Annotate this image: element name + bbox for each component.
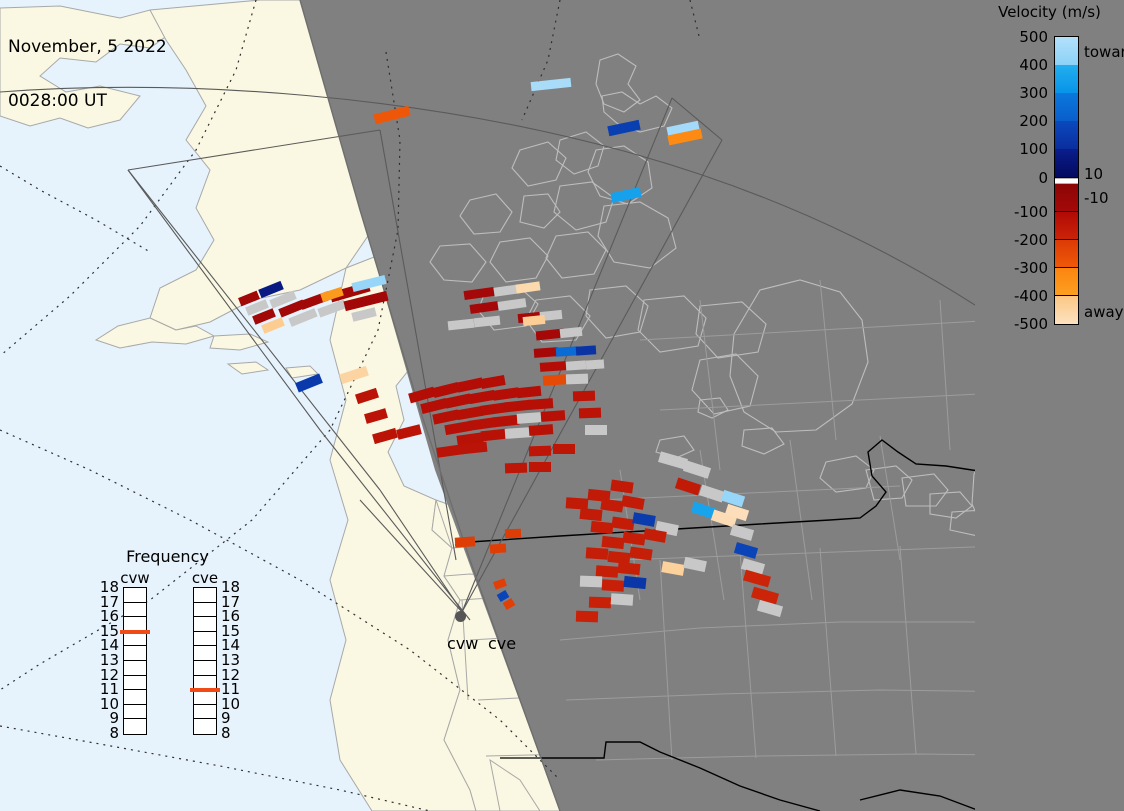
colorbar-title: Velocity (m/s) <box>975 3 1124 21</box>
radar-cell <box>480 375 505 389</box>
colorbar-tick--300: -300 <box>990 259 1048 277</box>
colorbar-band--500--400 <box>1055 296 1078 324</box>
radar-cell <box>373 106 410 124</box>
frequency-cell <box>194 588 216 603</box>
frequency-marker-cvw <box>120 630 150 634</box>
radar-cell <box>529 462 551 472</box>
radar-cell <box>461 442 488 455</box>
radar-cell <box>505 427 532 439</box>
radar-cell <box>585 425 607 435</box>
radar-cell <box>586 547 609 560</box>
radar-cell <box>580 576 602 588</box>
radar-cell <box>372 428 398 444</box>
colorbar-band-300-400 <box>1055 65 1078 93</box>
radar-cell <box>295 373 323 392</box>
radar-cell <box>602 579 625 592</box>
date-label: November, 5 2022 <box>8 38 167 56</box>
frequency-column-name-cvw: cvw <box>113 569 157 587</box>
radar-cell <box>553 444 575 454</box>
radar-cell <box>543 374 568 386</box>
colorbar-tick--200: -200 <box>990 231 1048 249</box>
radar-cell <box>355 388 379 404</box>
frequency-cell <box>194 705 216 720</box>
site-label-cvw: cvw <box>447 634 478 653</box>
frequency-cell <box>124 690 146 705</box>
radar-cell <box>566 374 588 385</box>
radar-cell <box>517 412 542 424</box>
colorbar-tick--400: -400 <box>990 287 1048 305</box>
frequency-cell <box>194 661 216 676</box>
radar-cell <box>675 478 701 496</box>
radar-cell <box>505 400 532 413</box>
radar-cell <box>629 547 652 561</box>
radar-cell <box>586 359 605 369</box>
frequency-cell <box>124 603 146 618</box>
radar-cell <box>503 598 516 610</box>
radar-cell <box>364 408 388 424</box>
colorbar-near-zero-positive-label: 10 <box>1084 165 1103 183</box>
radar-cell <box>492 387 519 401</box>
radar-cell <box>743 570 771 588</box>
colorbar-panel: Velocity (m/s) 5004003002001000-100-200-… <box>975 0 1124 811</box>
frequency-title: Frequency <box>95 547 240 566</box>
frequency-bar-cve[interactable] <box>193 587 217 735</box>
radar-cell <box>523 315 546 326</box>
radar-site-marker <box>455 611 466 622</box>
colorbar-band-100-200 <box>1055 121 1078 149</box>
radar-cell <box>339 366 369 384</box>
radar-cell <box>505 463 527 474</box>
radar-cell <box>540 361 567 372</box>
radar-cell <box>734 542 758 559</box>
frequency-tick-right-8: 8 <box>221 724 231 742</box>
radar-cell <box>683 460 711 478</box>
radar-cell <box>607 120 640 136</box>
radar-cell <box>456 406 483 420</box>
radar-cell <box>480 402 507 416</box>
radar-cell <box>481 429 508 442</box>
radar-cell <box>541 410 566 422</box>
colorbar-tick-300: 300 <box>990 84 1048 102</box>
frequency-cell <box>194 646 216 661</box>
radar-cell <box>730 524 754 541</box>
radar-cell <box>534 347 559 358</box>
colorbar-tick-200: 200 <box>990 112 1048 130</box>
timestamp-block: November, 5 2022 0028:00 UT <box>8 2 167 146</box>
site-label-cve: cve <box>488 634 516 653</box>
radar-cell <box>579 508 602 521</box>
radar-cell <box>611 517 634 531</box>
frequency-cell <box>124 646 146 661</box>
radar-cell <box>464 287 495 300</box>
radar-cell <box>444 421 471 435</box>
colorbar-band--200--100 <box>1055 212 1078 240</box>
colorbar-near-zero-negative-label: -10 <box>1084 189 1109 207</box>
colorbar-tick-500: 500 <box>990 28 1048 46</box>
radar-cell <box>517 386 542 398</box>
time-label: 0028:00 UT <box>8 92 167 110</box>
radar-cell <box>505 529 521 539</box>
radar-cell <box>757 600 783 617</box>
radar-cell <box>623 576 646 589</box>
colorbar-gradient[interactable] <box>1054 36 1079 325</box>
radar-cell <box>529 398 554 410</box>
radar-cell <box>351 307 376 322</box>
radar-cell <box>468 390 495 404</box>
radar-cell <box>529 446 551 457</box>
colorbar-tick-0: 0 <box>990 169 1048 187</box>
radar-cell <box>493 415 520 428</box>
radar-cell <box>448 319 475 331</box>
colorbar-tick--100: -100 <box>990 203 1048 221</box>
colorbar-band--400--300 <box>1055 268 1078 296</box>
fan-plot-canvas: November, 5 2022 0028:00 UT cvw cve Freq… <box>0 0 1124 811</box>
radar-cell <box>566 360 587 370</box>
radar-cell <box>589 597 611 609</box>
radar-cell <box>455 536 476 547</box>
radar-cell <box>683 557 707 572</box>
frequency-cell <box>124 676 146 691</box>
colorbar-away-label: away <box>1084 303 1124 321</box>
radar-cell <box>396 424 422 440</box>
radar-cell <box>621 495 645 510</box>
colorbar-band--100-0 <box>1055 184 1078 212</box>
radar-cell <box>601 536 624 549</box>
radar-cell <box>661 561 685 576</box>
radar-cell <box>611 593 634 606</box>
radar-cell <box>579 408 601 419</box>
frequency-cell <box>194 719 216 734</box>
colorbar-band-400-500 <box>1055 37 1078 65</box>
radar-cell <box>468 417 495 431</box>
frequency-legend: Frequency cvw cve 18171615141312111098 1… <box>95 545 240 785</box>
frequency-cell <box>194 603 216 618</box>
radar-cell <box>573 391 595 402</box>
frequency-cell <box>124 705 146 720</box>
radar-cell <box>576 611 598 623</box>
radar-cell <box>610 187 641 203</box>
colorbar-tick--500: -500 <box>990 315 1048 333</box>
colorbar-tick-400: 400 <box>990 56 1048 74</box>
frequency-cell <box>194 690 216 705</box>
frequency-cell <box>124 588 146 603</box>
colorbar-band-0-100 <box>1055 149 1078 177</box>
radar-cell <box>490 543 507 553</box>
frequency-cell <box>194 617 216 632</box>
radar-cell <box>470 301 499 314</box>
radar-cell <box>617 562 640 575</box>
frequency-marker-cve <box>190 688 220 692</box>
radar-cell <box>632 512 656 527</box>
radar-cell <box>610 480 633 494</box>
frequency-cell <box>124 661 146 676</box>
colorbar-toward-label: toward <box>1084 43 1124 61</box>
frequency-cell <box>124 719 146 734</box>
colorbar-tick-100: 100 <box>990 140 1048 158</box>
radar-cell <box>590 521 613 534</box>
radar-cell <box>531 78 572 91</box>
radar-cell <box>436 444 463 458</box>
colorbar-band-200-300 <box>1055 93 1078 121</box>
frequency-bar-cvw[interactable] <box>123 587 147 735</box>
frequency-cell <box>124 632 146 647</box>
radar-cell <box>576 345 597 355</box>
radar-cell <box>498 298 527 311</box>
radar-cell <box>529 424 554 436</box>
frequency-tick-left-8: 8 <box>95 724 119 742</box>
radar-cell <box>493 578 507 590</box>
radar-cell <box>474 316 501 328</box>
colorbar-band--300--200 <box>1055 240 1078 268</box>
radar-cell <box>560 327 583 338</box>
radar-cell <box>515 281 540 293</box>
frequency-cell <box>194 632 216 647</box>
